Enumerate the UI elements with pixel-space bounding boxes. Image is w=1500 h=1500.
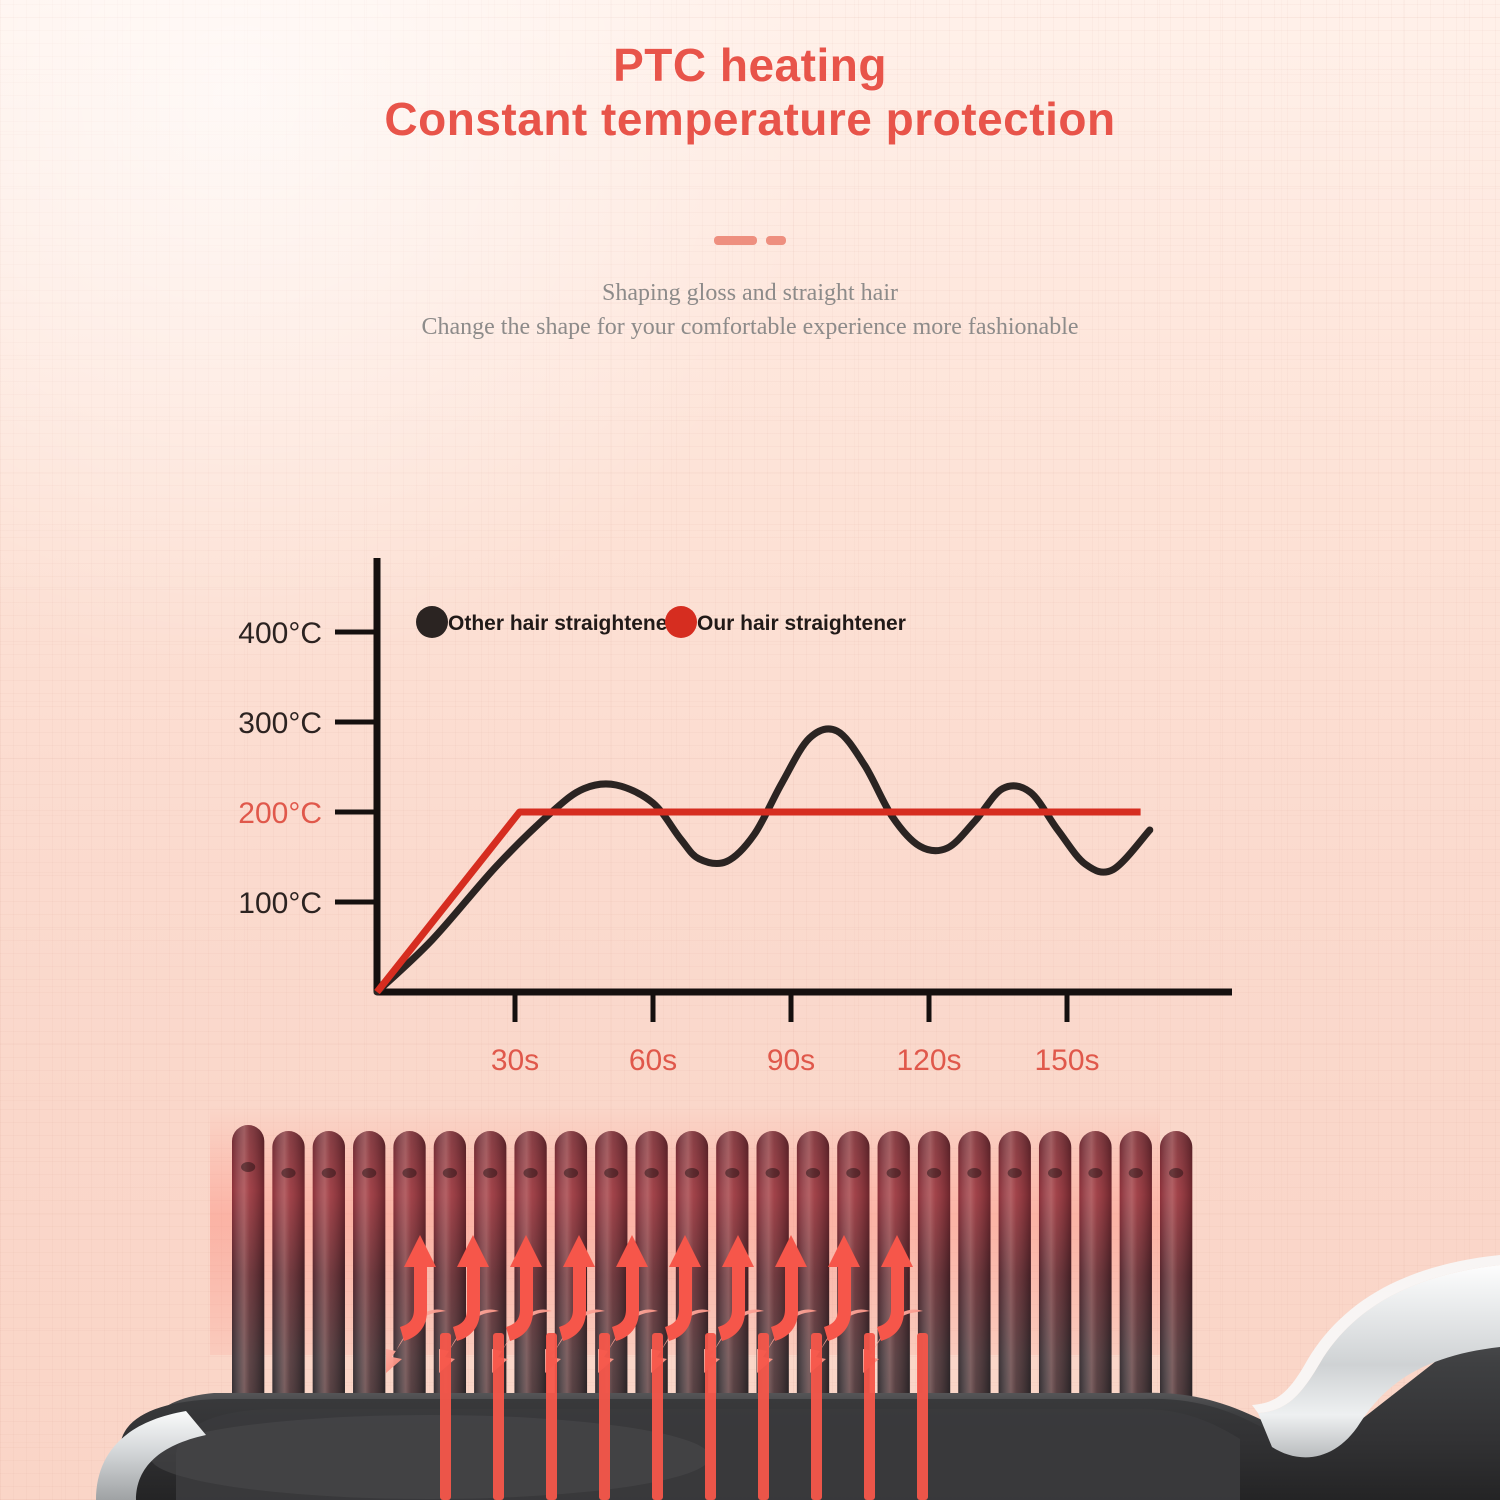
legend-marker-other — [416, 606, 448, 638]
x-axis-labels: 30s60s90s120s150s — [491, 1044, 1100, 1077]
y-tick-label-200: 200°C — [238, 797, 322, 830]
comb-tooth-notch — [241, 1162, 255, 1172]
heat-stem — [599, 1333, 610, 1500]
comb-tooth-notch — [806, 1168, 820, 1178]
comb-tooth-notch — [967, 1168, 981, 1178]
x-tick-label-150: 150s — [1034, 1044, 1099, 1077]
series-our-hair-straightener — [377, 812, 1141, 992]
comb-tooth-notch — [725, 1168, 739, 1178]
heat-stem — [811, 1333, 822, 1500]
headline-secondary: Constant temperature protection — [0, 92, 1500, 146]
heat-stem — [705, 1333, 716, 1500]
x-tick-label-90: 90s — [767, 1044, 815, 1077]
heat-stem — [493, 1333, 504, 1500]
comb-tooth-notch — [1048, 1168, 1062, 1178]
heat-stem — [864, 1333, 875, 1500]
comb-tooth-notch — [645, 1168, 659, 1178]
y-tick-label-100: 100°C — [238, 887, 322, 920]
divider-dash-long — [714, 236, 757, 245]
comb-tooth-notch — [604, 1168, 618, 1178]
temperature-chart: 100°C200°C300°C400°C 30s60s90s120s150s O… — [0, 520, 1500, 1120]
heat-stem — [652, 1333, 663, 1500]
comb-tooth-notch — [1169, 1168, 1183, 1178]
x-tick-label-120: 120s — [896, 1044, 961, 1077]
divider-ornament — [0, 236, 1500, 245]
comb-tooth-notch — [362, 1168, 376, 1178]
plate-highlight — [150, 1415, 710, 1499]
chart-series — [377, 729, 1150, 992]
series-other-hair-straightener — [377, 729, 1150, 992]
comb-tooth-notch — [322, 1168, 336, 1178]
heat-stem — [758, 1333, 769, 1500]
comb-tooth-notch — [1129, 1168, 1143, 1178]
comb-tooth-notch — [443, 1168, 457, 1178]
product-illustration — [0, 1105, 1500, 1500]
legend-label-our: Our hair straightener — [697, 612, 906, 635]
comb-tooth-notch — [846, 1168, 860, 1178]
divider-dash-short — [766, 236, 786, 245]
comb-tooth-notch — [483, 1168, 497, 1178]
y-tick-label-400: 400°C — [238, 617, 322, 650]
comb-tooth-notch — [927, 1168, 941, 1178]
comb-tooth-notch — [1008, 1168, 1022, 1178]
legend-marker-our — [665, 606, 697, 638]
x-tick-label-60: 60s — [629, 1044, 677, 1077]
subtitle-block: Shaping gloss and straight hair Change t… — [0, 276, 1500, 344]
comb-tooth-notch — [523, 1168, 537, 1178]
comb-tooth-notch — [564, 1168, 578, 1178]
x-tick-label-30: 30s — [491, 1044, 539, 1077]
comb-tooth-notch — [402, 1168, 416, 1178]
comb-tooth-notch — [281, 1168, 295, 1178]
page-header: PTC heating Constant temperature protect… — [0, 38, 1500, 147]
comb-tooth-notch — [1088, 1168, 1102, 1178]
y-axis-ticks — [335, 632, 377, 902]
heat-stem — [546, 1333, 557, 1500]
heat-stem — [917, 1333, 928, 1500]
legend-label-other: Other hair straightener — [448, 612, 676, 635]
subtitle-line-1: Shaping gloss and straight hair — [0, 276, 1500, 310]
comb-tooth-notch — [766, 1168, 780, 1178]
subtitle-line-2: Change the shape for your comfortable ex… — [0, 310, 1500, 344]
infographic-page: PTC heating Constant temperature protect… — [0, 0, 1500, 1500]
x-axis-ticks — [515, 992, 1067, 1022]
comb-tooth-notch — [887, 1168, 901, 1178]
heat-stem — [440, 1333, 451, 1500]
comb-tooth-notch — [685, 1168, 699, 1178]
headline-primary: PTC heating — [0, 38, 1500, 92]
y-axis-labels: 100°C200°C300°C400°C — [238, 617, 322, 920]
chart-legend: Other hair straightener Our hair straigh… — [416, 606, 906, 638]
y-tick-label-300: 300°C — [238, 707, 322, 740]
